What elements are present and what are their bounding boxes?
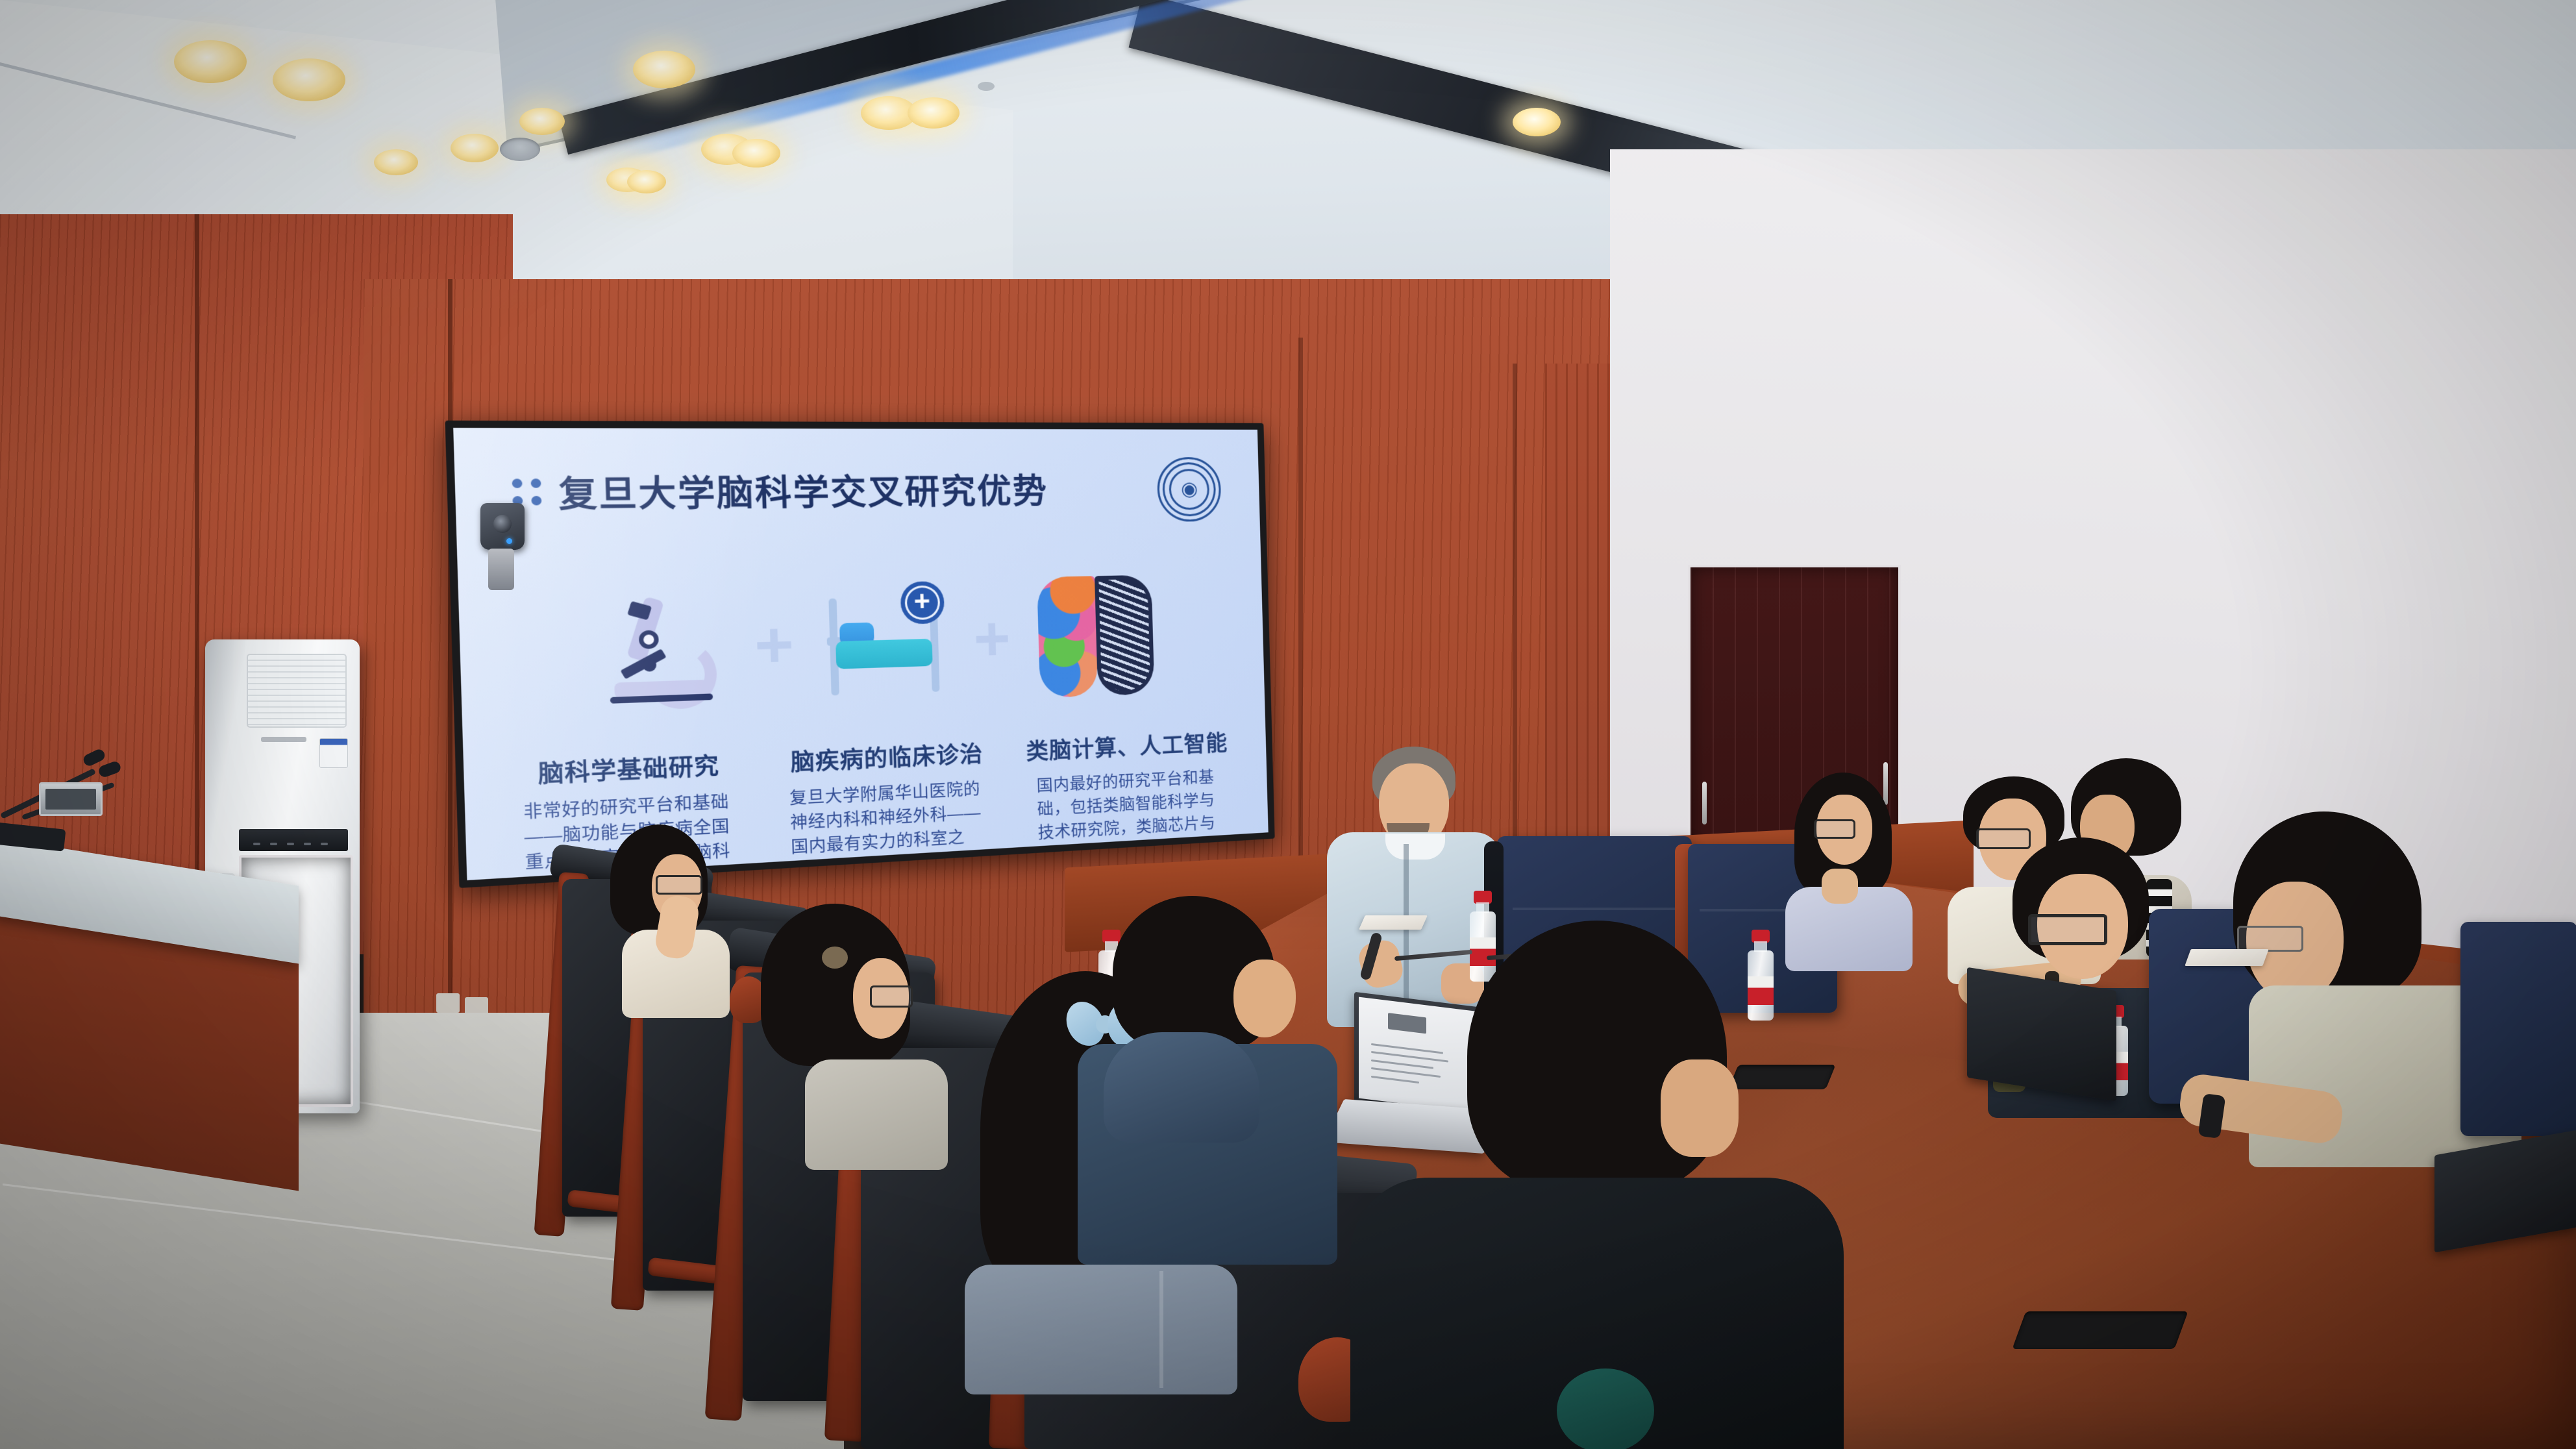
downlight-icon (451, 134, 499, 162)
fudan-brain-seal-icon: ◉ (1156, 457, 1221, 522)
laptop-far-right[interactable] (2434, 1143, 2576, 1279)
attendee-6-glasses (1814, 819, 1855, 839)
attendee-1 (604, 824, 727, 1006)
downlight-icon (627, 170, 666, 193)
brain-ai-icon (1023, 558, 1167, 715)
jacket-seam (1159, 1271, 1163, 1388)
door-handle-left-icon[interactable] (1702, 782, 1707, 824)
plus-symbol-2: + (972, 608, 1011, 671)
attendee-2-hair-clip (822, 947, 848, 969)
downlight-icon (908, 97, 960, 129)
attendee-2 (757, 904, 939, 1163)
microphone-base-unit[interactable] (39, 782, 103, 816)
column-3-heading: 类脑计算、人工智能 (1017, 724, 1235, 766)
downlight-icon (273, 58, 345, 101)
hospital-bed-icon: + (808, 562, 961, 724)
camera-led-icon (506, 538, 512, 544)
slide-title: 复旦大学脑科学交叉研究优势 (558, 464, 1048, 517)
ac-energy-label (319, 738, 348, 768)
medical-cross-icon: + (900, 581, 945, 625)
projection-screen: 复旦大学脑科学交叉研究优势 ◉ + (445, 421, 1274, 888)
downlight-icon (174, 40, 247, 83)
slide-content: 复旦大学脑科学交叉研究优势 ◉ + (453, 428, 1269, 880)
microscope-icon (577, 565, 741, 734)
attendee-2-top (805, 1059, 948, 1170)
laptop-right[interactable] (1967, 979, 2162, 1128)
laptop-screen-back (1967, 967, 2116, 1101)
attendee-2-glasses (870, 985, 913, 1008)
column-1-heading: 脑科学基础研究 (501, 745, 754, 791)
camera-lens-icon (493, 515, 512, 533)
room-photo-scene: 复旦大学脑科学交叉研究优势 ◉ + (0, 0, 2576, 1449)
wall-seam (195, 214, 199, 980)
attendee-4 (1078, 896, 1337, 1259)
attendee-4-hood (1104, 1032, 1259, 1143)
downlight-icon (633, 51, 695, 88)
sprinkler-icon (978, 82, 995, 91)
attendee-4-face (1233, 960, 1296, 1037)
ac-brand-mark (261, 737, 306, 742)
ac-air-grill (247, 654, 347, 728)
bullet-dots-icon (512, 478, 541, 506)
downlight-icon (732, 139, 780, 167)
attendee-1-glasses (656, 875, 702, 895)
column-2-heading: 脑疾病的临床诊治 (769, 735, 1003, 778)
downlight-icon (519, 108, 565, 135)
laptop-screen-back-2 (2434, 1130, 2576, 1253)
attendee-5-ear-neck (1661, 1059, 1739, 1157)
screen-bezel: 复旦大学脑科学交叉研究优势 ◉ + (445, 421, 1274, 888)
downlight-icon (1513, 108, 1561, 136)
ptz-camera-icon (480, 503, 525, 550)
ac-display-panel[interactable] (239, 829, 348, 851)
seal-inner-glyph: ◉ (1169, 469, 1209, 510)
attendee-10-glasses (2237, 926, 2303, 952)
ceiling-vent-icon (500, 138, 540, 161)
plus-symbol-1: + (754, 613, 795, 678)
wall-outlet-icon[interactable] (436, 993, 460, 1013)
attendee-5 (1350, 921, 1844, 1449)
slide-icons-row: + + + (457, 547, 1265, 749)
chair-right-2[interactable] (2460, 922, 2576, 1136)
attendee-6-hand (1822, 869, 1858, 904)
attendee-3-denim-jacket (965, 1265, 1237, 1394)
table-paper (2185, 949, 2268, 966)
slide-title-row: 复旦大学脑科学交叉研究优势 (512, 464, 1048, 518)
downlight-icon (374, 149, 418, 175)
table-cable-port[interactable] (2012, 1311, 2188, 1349)
presenter-collar (1385, 834, 1445, 860)
camera-mount (488, 549, 514, 590)
attendee-9-glasses (2028, 914, 2107, 945)
hoodie-graphic (1557, 1368, 1654, 1449)
